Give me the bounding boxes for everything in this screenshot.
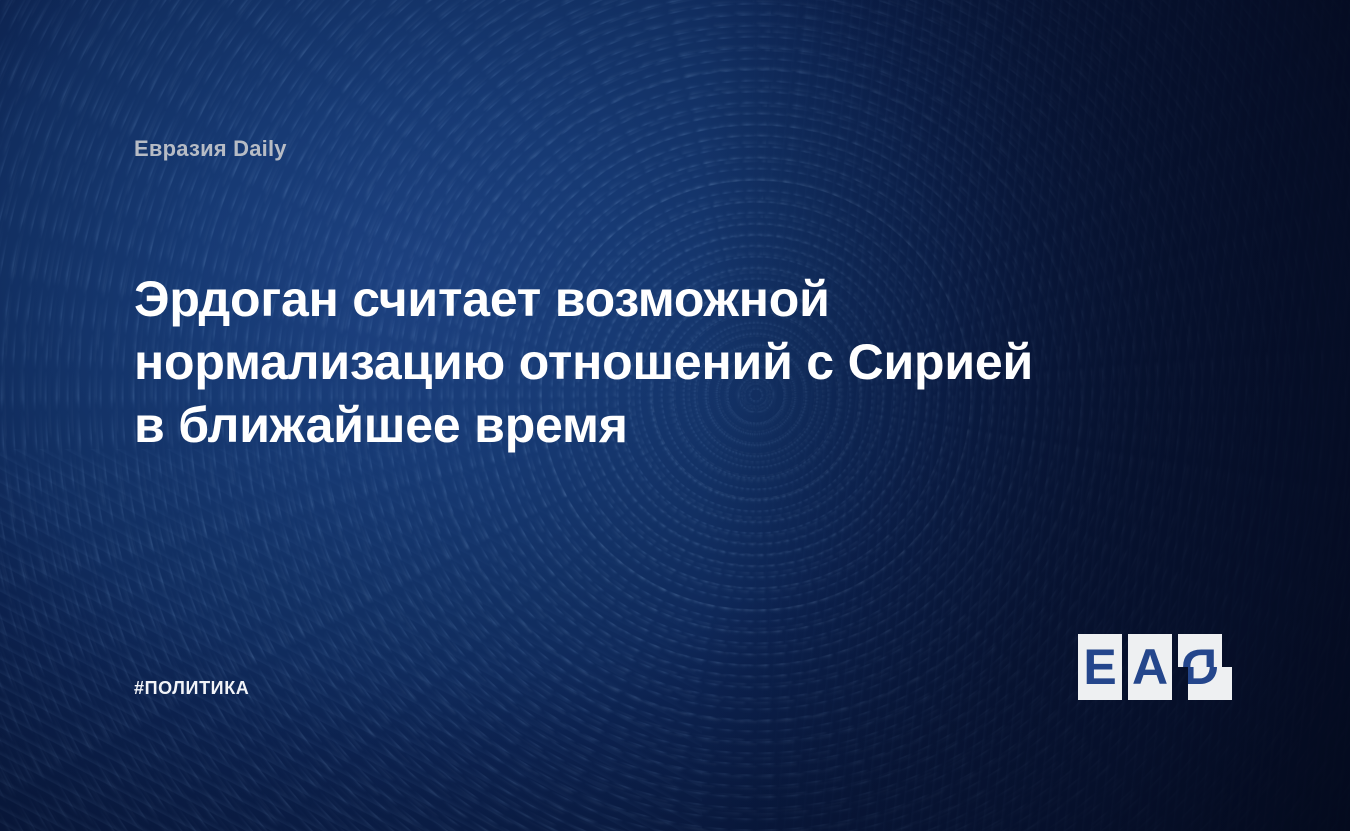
logo-d-glyph-bottom: D <box>1188 667 1219 692</box>
headline-line-3: в ближайшее время <box>134 394 1134 457</box>
logo-d-glyph-top: D <box>1181 642 1217 667</box>
card-content: Евразия Daily Эрдоган считает возможной … <box>0 0 1350 831</box>
headline-line-1: Эрдоган считает возможной <box>134 268 1134 331</box>
headline-line-2: нормализацию отношений с Сирией <box>134 331 1134 394</box>
eadaily-logo[interactable]: E A D D <box>1078 634 1222 700</box>
news-share-card: Евразия Daily Эрдоган считает возможной … <box>0 0 1350 831</box>
site-name: Евразия Daily <box>134 136 287 162</box>
logo-tile-a: A <box>1128 634 1172 700</box>
category-hashtag[interactable]: #ПОЛИТИКА <box>134 678 249 699</box>
logo-tile-d-bottom-half: D <box>1188 667 1232 700</box>
headline: Эрдоган считает возможной нормализацию о… <box>134 268 1134 457</box>
logo-tile-e: E <box>1078 634 1122 700</box>
logo-tile-d: D D <box>1178 634 1222 700</box>
logo-tile-d-top-half: D <box>1178 634 1222 667</box>
